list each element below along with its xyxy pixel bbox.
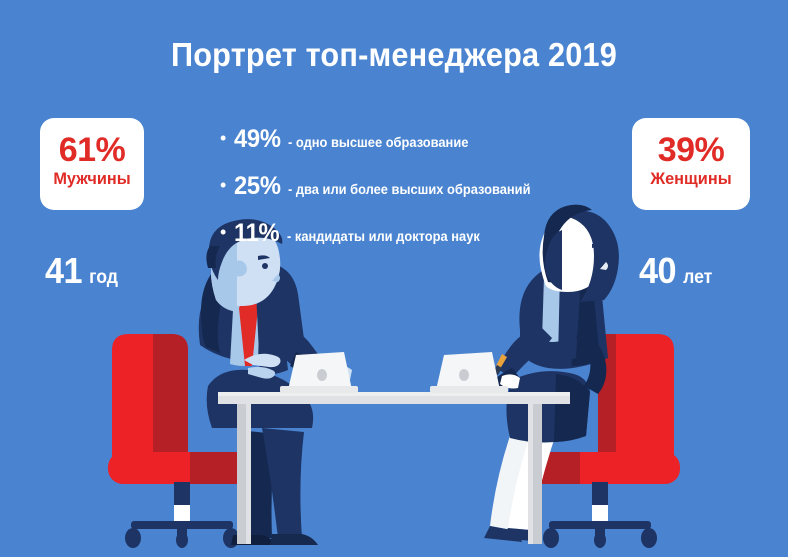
list-item: • 49% - одно высшее образование — [220, 126, 580, 173]
bullet-text: - одно высшее образование — [288, 134, 468, 150]
men-label: Мужчины — [42, 169, 142, 189]
age-men: 41год — [44, 252, 119, 290]
bullet-dot-icon: • — [220, 223, 226, 241]
stat-card-women: 39% Женщины — [632, 118, 750, 210]
infographic-canvas: Портрет топ-менеджера 2019 61% Мужчины 3… — [0, 0, 788, 557]
list-item: • 11% - кандидаты или доктора наук — [220, 220, 580, 267]
bullet-percent: 25% — [234, 173, 281, 199]
women-percent: 39% — [632, 131, 750, 169]
laptop-right — [430, 352, 508, 393]
list-item: • 25% - два или более высших образований — [220, 173, 580, 220]
bullet-dot-icon: • — [220, 176, 226, 194]
age-men-unit: год — [89, 268, 118, 288]
men-percent: 61% — [40, 131, 144, 169]
age-women-unit: лет — [683, 268, 712, 288]
education-bullet-list: • 49% - одно высшее образование • 25% - … — [220, 126, 580, 267]
age-women-number: 40 — [639, 252, 676, 290]
age-men-number: 41 — [45, 252, 82, 290]
age-women: 40лет — [638, 252, 714, 290]
stat-card-men: 61% Мужчины — [40, 118, 144, 210]
women-label: Женщины — [634, 169, 747, 189]
bullet-text: - кандидаты или доктора наук — [287, 228, 480, 244]
bullet-percent: 49% — [234, 126, 281, 152]
page-title: Портрет топ-менеджера 2019 — [28, 36, 761, 74]
bullet-percent: 11% — [234, 220, 279, 246]
bullet-text: - два или более высших образований — [288, 181, 531, 197]
bullet-dot-icon: • — [220, 129, 226, 147]
